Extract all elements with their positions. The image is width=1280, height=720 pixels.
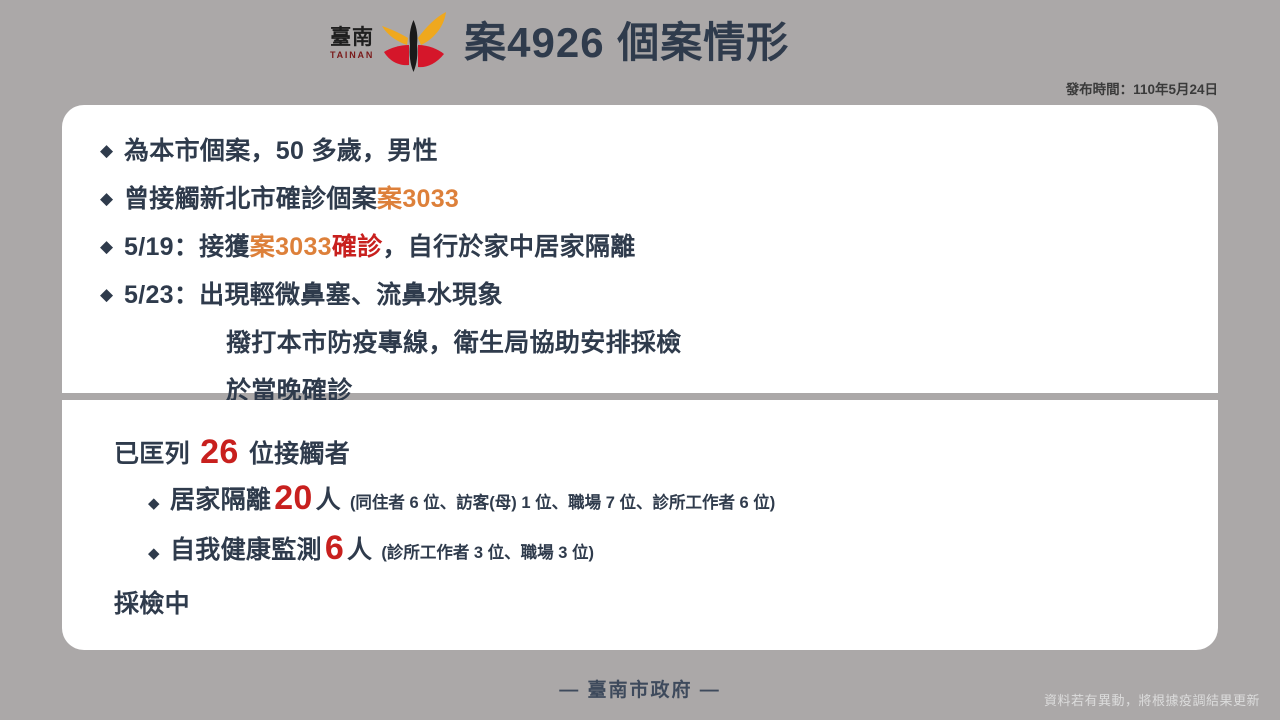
plain-text: ，自行於家中居家隔離 <box>383 233 636 261</box>
contacts-summary: 已匡列 26 位接觸者 ◆居家隔離20人(同住者 6 位、訪客(母) 1 位、職… <box>114 430 1198 626</box>
contacts-total-count: 26 <box>197 433 241 471</box>
diamond-bullet-icon: ◆ <box>148 482 170 526</box>
publish-date: 發布時間：110年5月24日 <box>1066 78 1218 98</box>
highlight-orange: 案3033 <box>250 233 332 261</box>
plain-text: 曾接觸新北市確診個案 <box>124 185 377 213</box>
case-bullet-text: 5/23：出現輕微鼻塞、流鼻水現象 <box>124 275 503 315</box>
slide-root: 臺南 TAINAN 案4926 個案情形 發布時間：110年5月24日 <box>0 0 1280 720</box>
breakdown-unit: 人 <box>316 486 341 514</box>
contacts-breakdown-row: ◆居家隔離20人(同住者 6 位、訪客(母) 1 位、職場 7 位、診所工作者 … <box>148 476 1198 526</box>
page-title: 案4926 個案情形 <box>464 22 789 64</box>
plain-text: 撥打本市防疫專線，衛生局協助安排採檢 <box>226 329 681 357</box>
case-detail-card: ◆為本市個案，50 多歲，男性◆曾接觸新北市確診個案案3033◆5/19：接獲案… <box>62 105 1218 393</box>
highlight-red: 確診 <box>332 233 383 261</box>
case-bullet-text: 撥打本市防疫專線，衛生局協助安排採檢 <box>124 323 681 363</box>
diamond-bullet-icon: ◆ <box>148 532 170 576</box>
breakdown-note: (診所工作者 3 位、職場 3 位) <box>381 531 594 575</box>
case-bullet-text: 曾接觸新北市確診個案案3033 <box>124 179 459 219</box>
footer-disclaimer: 資料若有異動，將根據疫調結果更新 <box>1044 690 1260 709</box>
header: 臺南 TAINAN 案4926 個案情形 發布時間：110年5月24日 <box>0 0 1280 100</box>
breakdown-note: (同住者 6 位、訪客(母) 1 位、職場 7 位、診所工作者 6 位) <box>350 481 775 525</box>
contacts-breakdown-label: 自我健康監測6人 <box>170 526 372 572</box>
contacts-breakdown-list: ◆居家隔離20人(同住者 6 位、訪客(母) 1 位、職場 7 位、診所工作者 … <box>114 476 1198 576</box>
logo-wordmark: 臺南 TAINAN <box>330 27 374 60</box>
highlight-orange: 案3033 <box>377 185 459 213</box>
plain-text: 5/19：接獲 <box>124 233 250 261</box>
contacts-card: 已匡列 26 位接觸者 ◆居家隔離20人(同住者 6 位、訪客(母) 1 位、職… <box>62 400 1218 650</box>
case-bullet-list: ◆為本市個案，50 多歲，男性◆曾接觸新北市確診個案案3033◆5/19：接獲案… <box>100 131 1198 419</box>
logo-wordmark-cn: 臺南 <box>330 27 374 48</box>
diamond-bullet-icon: ◆ <box>100 131 124 171</box>
breakdown-prefix: 自我健康監測 <box>170 536 322 564</box>
breakdown-unit: 人 <box>347 536 372 564</box>
case-bullet-text: 為本市個案，50 多歲，男性 <box>124 131 438 171</box>
case-bullet-row: ◆5/19：接獲案3033確診，自行於家中居家隔離 <box>100 227 1198 267</box>
contacts-breakdown-label: 居家隔離20人 <box>170 476 341 522</box>
contacts-headline-prefix: 已匡列 <box>114 440 190 468</box>
diamond-bullet-icon: ◆ <box>100 275 124 315</box>
case-bullet-row: ◆撥打本市防疫專線，衛生局協助安排採檢 <box>100 323 1198 363</box>
case-bullet-row: ◆為本市個案，50 多歲，男性 <box>100 131 1198 171</box>
breakdown-count: 20 <box>271 479 315 517</box>
tainan-butterfly-logo-icon <box>378 12 450 74</box>
diamond-bullet-icon: ◆ <box>100 179 124 219</box>
case-bullet-text: 5/19：接獲案3033確診，自行於家中居家隔離 <box>124 227 636 267</box>
contacts-breakdown-row: ◆自我健康監測6人(診所工作者 3 位、職場 3 位) <box>148 526 1198 576</box>
diamond-bullet-icon: ◆ <box>100 227 124 267</box>
breakdown-prefix: 居家隔離 <box>170 486 271 514</box>
logo-wordmark-en: TAINAN <box>330 51 374 60</box>
header-brand-title: 臺南 TAINAN 案4926 個案情形 <box>330 12 789 74</box>
plain-text: 為本市個案，50 多歲，男性 <box>124 137 438 165</box>
case-bullet-row: ◆5/23：出現輕微鼻塞、流鼻水現象 <box>100 275 1198 315</box>
plain-text: 5/23：出現輕微鼻塞、流鼻水現象 <box>124 281 503 309</box>
breakdown-count: 6 <box>322 529 347 567</box>
tainan-logo: 臺南 TAINAN <box>330 12 450 74</box>
case-bullet-row: ◆曾接觸新北市確診個案案3033 <box>100 179 1198 219</box>
contacts-headline: 已匡列 26 位接觸者 <box>114 430 1198 476</box>
sampling-status: 採檢中 <box>114 582 1198 626</box>
contacts-headline-suffix: 位接觸者 <box>249 440 350 468</box>
